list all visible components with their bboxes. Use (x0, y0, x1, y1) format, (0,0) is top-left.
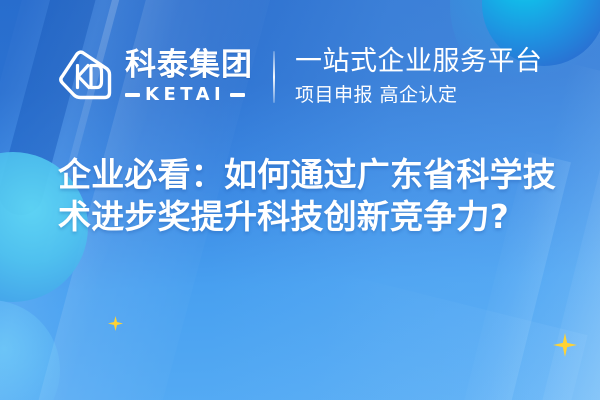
header-divider (273, 51, 275, 103)
brand-wordmark: 科泰集团 KETAI (125, 50, 253, 104)
bottom-faint-stripe (272, 272, 587, 400)
tagline-main: 一站式企业服务平台 (295, 47, 543, 77)
brand-name-en: KETAI (145, 86, 225, 104)
promo-banner: 科泰集团 KETAI 一站式企业服务平台 项目申报 高企认定 企业必看：如何通过… (0, 0, 600, 400)
banner-header: 科泰集团 KETAI 一站式企业服务平台 项目申报 高企认定 (0, 38, 600, 116)
sparkle-icon-left (108, 316, 123, 331)
cyan-blob-secondary (0, 300, 60, 400)
tagline-sub: 项目申报 高企认定 (295, 84, 543, 107)
dash-left-icon (125, 93, 140, 97)
headline-text: 企业必看：如何通过广东省科学技术进步奖提升科技创新竞争力? (58, 154, 558, 238)
brand-name-en-row: KETAI (125, 86, 253, 104)
sparkle-icon-right (553, 333, 577, 357)
brand-name-cn: 科泰集团 (125, 50, 253, 81)
tagline-group: 一站式企业服务平台 项目申报 高企认定 (295, 47, 543, 106)
brand-logo: 科泰集团 KETAI (56, 48, 253, 106)
ketai-diamond-kd-logo-icon (56, 48, 114, 106)
dash-right-icon (230, 93, 245, 97)
